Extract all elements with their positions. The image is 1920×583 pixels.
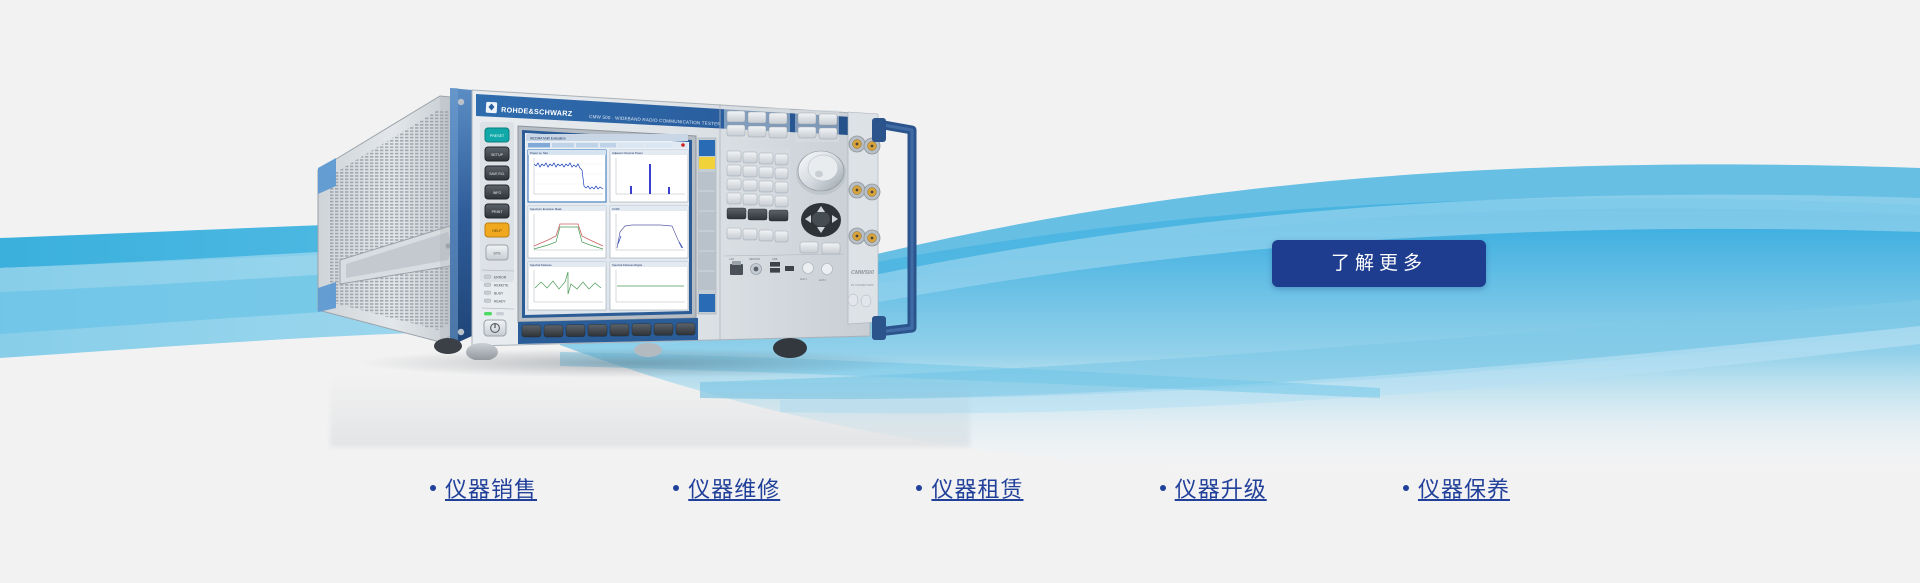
service-links-row: 仪器销售 仪器维修 仪器租赁 仪器升级 仪器保养 — [430, 468, 1510, 508]
status-led-busy-label: BUSY — [494, 292, 504, 296]
service-label: 仪器保养 — [1418, 472, 1510, 504]
service-link-repair[interactable]: 仪器维修 — [673, 472, 780, 504]
display-panel-acp: Adjacent Channel Power — [610, 150, 688, 202]
rohde-schwarz-logo-icon — [486, 102, 498, 114]
power-button[interactable] — [484, 320, 506, 336]
bullet-dot-icon — [1160, 485, 1166, 491]
panel-title: Spectrum Emission Mask — [530, 207, 562, 211]
instrument-product-image: ROHDE&SCHWARZ CMW 500 · WIDEBAND RADIO C… — [300, 60, 940, 360]
service-label: 仪器租赁 — [931, 472, 1023, 504]
funckey-3[interactable] — [769, 113, 787, 124]
key-2[interactable] — [743, 180, 757, 191]
bullet-dot-icon — [1403, 485, 1409, 491]
lowkey-4[interactable] — [775, 231, 788, 242]
navkey-1[interactable] — [800, 242, 818, 253]
sidekey-6[interactable] — [699, 232, 715, 250]
display-title: WCDMA Multi Evaluation — [530, 137, 566, 141]
panel-title: CCDF — [612, 207, 620, 211]
service-label: 仪器升级 — [1175, 472, 1267, 504]
navkey-2[interactable] — [822, 243, 840, 254]
bullet-dot-icon — [430, 485, 436, 491]
key-op3[interactable] — [775, 182, 788, 193]
key-0[interactable] — [727, 193, 741, 204]
funckey-8[interactable] — [819, 114, 837, 125]
sensor-port[interactable] — [751, 264, 762, 275]
sidekey-8[interactable] — [699, 272, 715, 290]
key-1[interactable] — [727, 179, 741, 190]
usb-label: USB — [772, 257, 778, 261]
rf-connector-panel[interactable]: CMW500 RF CONNECTORS — [848, 112, 880, 324]
key-op1[interactable] — [775, 154, 788, 165]
funckey-4[interactable] — [727, 125, 745, 136]
rf-button-1[interactable] — [848, 294, 858, 306]
softkey-1[interactable] — [522, 325, 541, 337]
funckey-5[interactable] — [748, 126, 766, 137]
key-backspace[interactable] — [727, 208, 746, 219]
key-op4[interactable] — [775, 196, 788, 207]
bullet-dot-icon — [673, 485, 679, 491]
key-4[interactable] — [727, 165, 741, 176]
softkey-3[interactable] — [566, 325, 585, 337]
bullet-dot-icon — [916, 485, 922, 491]
hardkey-setup-label: SETUP — [491, 153, 504, 157]
hardkey-info-label: INFO — [493, 191, 502, 195]
funckey-6[interactable] — [769, 127, 787, 138]
key-8[interactable] — [743, 152, 757, 163]
softkey-4[interactable] — [588, 324, 607, 336]
softkey-7[interactable] — [654, 323, 673, 335]
key-dot[interactable] — [743, 194, 757, 205]
key-minus[interactable] — [759, 195, 773, 206]
aux1-label: AUX 1 — [800, 278, 808, 281]
key-6[interactable] — [759, 167, 773, 178]
display-sidekey-column[interactable] — [698, 138, 716, 314]
status-led-ready-label: READY — [494, 300, 506, 304]
service-label: 仪器维修 — [688, 472, 780, 504]
rf-panel-caption: RF CONNECTORS — [851, 283, 874, 287]
instrument-reflection — [330, 352, 970, 447]
display-panel-power-vs-slot: Power vs. Slot — [528, 150, 606, 202]
lowkey-1[interactable] — [727, 228, 741, 239]
sidekey-5[interactable] — [699, 212, 715, 230]
hardkey-help-label: HELP — [492, 229, 502, 233]
aux2-label: AUX 2 — [819, 279, 827, 282]
lan-label: LAN — [729, 257, 734, 261]
funckey-1[interactable] — [727, 111, 745, 122]
navigation-dpad[interactable] — [801, 203, 841, 237]
sidekey-9[interactable] — [699, 294, 715, 312]
display-panel-ccdf: CCDF — [610, 206, 688, 258]
status-led-remote-label: REMOTE — [494, 284, 509, 288]
panel-title: Adjacent Channel Power — [612, 151, 643, 155]
aux2-jack[interactable] — [822, 264, 833, 275]
aux1-jack[interactable] — [803, 263, 814, 274]
key-5[interactable] — [743, 166, 757, 177]
lowkey-2[interactable] — [743, 229, 757, 240]
softkey-8[interactable] — [676, 323, 695, 335]
numeric-keypad[interactable] — [724, 148, 790, 242]
hardkey-column[interactable]: PRESET SETUP SAVE RCL INFO PRINT HELP — [480, 122, 514, 282]
service-link-rental[interactable]: 仪器租赁 — [916, 472, 1023, 504]
panel-title: Power vs. Slot — [530, 151, 548, 155]
softkey-5[interactable] — [610, 324, 629, 336]
funckey-7[interactable] — [798, 113, 816, 124]
service-link-upgrade[interactable]: 仪器升级 — [1160, 472, 1267, 504]
instrument-front-face: ROHDE&SCHWARZ CMW 500 · WIDEBAND RADIO C… — [472, 90, 880, 346]
sensor-label: SENSOR — [749, 257, 760, 261]
sidekey-marker[interactable] — [699, 252, 715, 270]
hardkey-save-rcl-label: SAVE RCL — [489, 172, 505, 176]
cmw500-instrument: ROHDE&SCHWARZ CMW 500 · WIDEBAND RADIO C… — [300, 60, 940, 360]
display-softkey-row[interactable] — [528, 300, 688, 311]
rotary-knob[interactable] — [796, 151, 846, 195]
sidekey-multi-eval[interactable] — [699, 140, 715, 156]
display-panel-sem: Spectrum Emission Mask — [528, 206, 606, 258]
funckey-9[interactable] — [798, 127, 816, 138]
hardkey-preset-label: PRESET — [490, 134, 505, 138]
learn-more-button[interactable]: 了解更多 — [1272, 240, 1486, 287]
sidekey-rf-settings[interactable] — [699, 172, 715, 190]
panel-title: Spectral Flatness — [530, 263, 552, 267]
softkey-2[interactable] — [544, 325, 563, 337]
key-op2[interactable] — [775, 168, 788, 179]
sidekey-trigger[interactable] — [699, 192, 715, 210]
key-9[interactable] — [759, 153, 773, 164]
funckey-2[interactable] — [748, 112, 766, 123]
key-3[interactable] — [759, 181, 773, 192]
lowkey-3[interactable] — [759, 230, 773, 241]
panel-title: Spectral Flatness Ripple — [612, 263, 643, 267]
hero-banner: ROHDE&SCHWARZ CMW 500 · WIDEBAND RADIO C… — [0, 0, 1920, 583]
status-led-error-label: ERROR — [494, 276, 507, 280]
funckey-10[interactable] — [819, 128, 837, 139]
softkey-6[interactable] — [632, 324, 651, 336]
hardkey-sys-label: SYS — [493, 252, 501, 256]
instrument-display[interactable]: WCDMA Multi Evaluation Power — [518, 126, 696, 322]
key-7[interactable] — [727, 151, 741, 162]
key-shift[interactable] — [748, 209, 767, 220]
service-link-maintenance[interactable]: 仪器保养 — [1403, 472, 1510, 504]
rf-button-2[interactable] — [861, 295, 871, 307]
front-badge: CMW500 — [851, 270, 874, 276]
service-label: 仪器销售 — [445, 472, 537, 504]
key-enter[interactable] — [769, 210, 788, 221]
sidekey-route[interactable] — [699, 157, 715, 169]
function-key-block[interactable] — [724, 108, 839, 142]
service-link-sales[interactable]: 仪器销售 — [430, 472, 537, 504]
hardkey-print-label: PRINT — [492, 210, 504, 214]
softkey-row[interactable] — [518, 318, 698, 344]
